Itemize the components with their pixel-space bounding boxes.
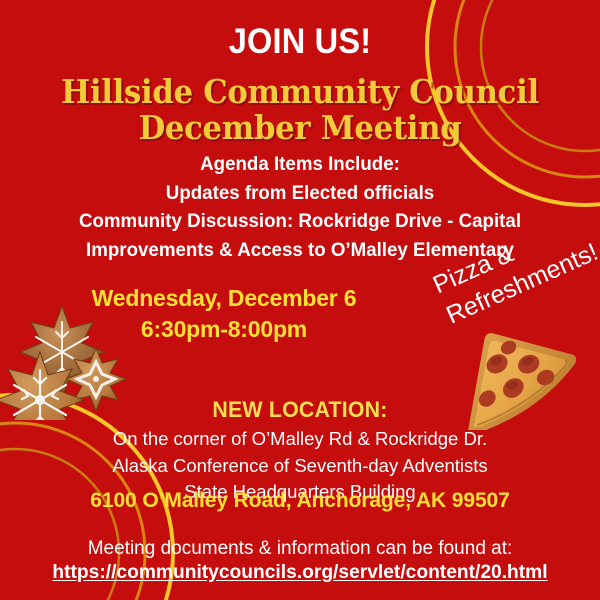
footer-url-link[interactable]: https://communitycouncils.org/servlet/co… [5, 561, 596, 584]
event-date: Wednesday, December 6 [14, 283, 434, 314]
event-time: 6:30pm-8:00pm [14, 314, 434, 345]
street-address: 6100 O’Malley Road, Anchorage, AK 99507 [0, 489, 600, 513]
location-line: Alaska Conference of Seventh-day Adventi… [0, 453, 600, 480]
kicker-join-us: JOIN US! [21, 22, 579, 62]
location-title: NEW LOCATION: [9, 397, 591, 423]
agenda-heading: Agenda Items Include: [12, 150, 588, 179]
page-title: Hillside Community Council December Meet… [21, 74, 579, 145]
headline-line-1: Hillside Community Council [61, 72, 539, 111]
agenda-item: Updates from Elected officials [12, 179, 588, 208]
event-datetime: Wednesday, December 6 6:30pm-8:00pm [14, 283, 434, 344]
location-line: On the corner of O’Malley Rd & Rockridge… [0, 426, 600, 453]
agenda-item: Community Discussion: Rockridge Drive - … [12, 207, 588, 236]
footer-note: Meeting documents & information can be f… [0, 538, 600, 560]
flyer-canvas: JOIN US! Hillside Community Council Dece… [0, 0, 600, 600]
headline-line-2: December Meeting [21, 110, 579, 146]
